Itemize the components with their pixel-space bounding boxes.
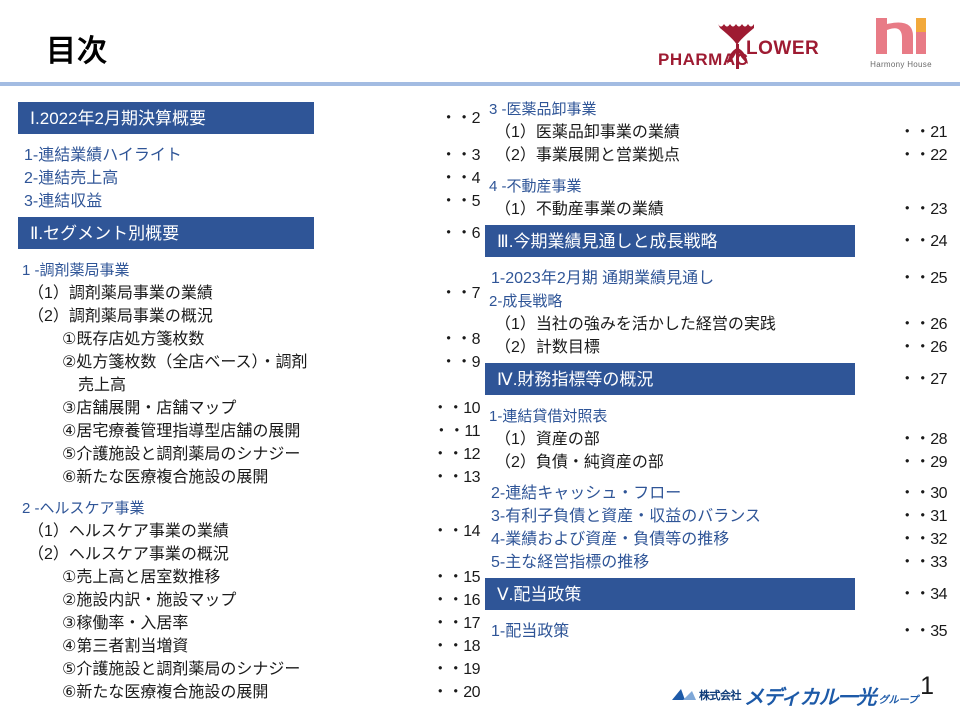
toc-item[interactable]: ②施設内訳・施設マップ・・16 (18, 589, 488, 612)
toc-item-label: ③稼働率・入居率 (18, 612, 188, 635)
toc-page-number: ・・5 (441, 190, 480, 213)
toc-item[interactable]: 2-成長戦略 (485, 290, 955, 313)
toc-item[interactable]: 売上高 (18, 374, 488, 397)
section-header-bar: Ⅲ.今期業績見通しと成長戦略 (485, 225, 855, 257)
toc-section-header[interactable]: Ⅴ.配当政策・・34 (485, 578, 955, 610)
toc-page-number: ・・7 (441, 282, 480, 305)
toc-page-number: ・・22 (899, 144, 947, 167)
toc-item-label: 2-成長戦略 (485, 290, 562, 313)
footer-logo-suffix: グループ (879, 691, 918, 708)
toc-page-number: ・・11 (433, 420, 480, 443)
toc-item[interactable]: （2）計数目標・・26 (485, 336, 955, 359)
header-divider (0, 82, 960, 86)
toc-item-label: 1-連結貸借対照表 (485, 405, 607, 428)
section-header-bar: Ⅱ.セグメント別概要 (18, 217, 314, 249)
toc-item[interactable]: ③稼働率・入居率・・17 (18, 612, 488, 635)
toc-item-label: 2-連結売上高 (18, 167, 118, 190)
section-header-bar: Ⅰ.2022年2月期決算概要 (18, 102, 314, 134)
spacer (18, 489, 488, 497)
toc-section-header[interactable]: Ⅰ.2022年2月期決算概要・・2 (18, 102, 488, 134)
toc-item-label: 1 -調剤薬局事業 (18, 259, 130, 282)
toc-item[interactable]: 4-業績および資産・負債等の推移・・32 (485, 528, 955, 551)
toc-item[interactable]: ⑥新たな医療複合施設の展開・・20 (18, 681, 488, 704)
section-header-bar: Ⅴ.配当政策 (485, 578, 855, 610)
toc-page-number: ・・24 (899, 230, 947, 253)
toc-item-label: （1）ヘルスケア事業の業績 (18, 520, 229, 543)
page-title: 目次 (46, 26, 108, 70)
toc-column-left: Ⅰ.2022年2月期決算概要・・21-連結業績ハイライト・・32-連結売上高・・… (18, 98, 488, 704)
toc-item-label: 3-有利子負債と資産・収益のバランス (485, 505, 761, 528)
harmony-house-logo: Harmony House (860, 16, 942, 78)
toc-item-label: 売上高 (18, 374, 126, 397)
toc-item-label: 2 -ヘルスケア事業 (18, 497, 145, 520)
toc-item[interactable]: （1）調剤薬局事業の業績・・7 (18, 282, 488, 305)
toc-item[interactable]: （2）事業展開と営業拠点・・22 (485, 144, 955, 167)
triangle-swoosh-icon (672, 688, 696, 702)
toc-page-number: ・・32 (899, 528, 947, 551)
toc-page-number: ・・33 (899, 551, 947, 574)
toc-item-label: ④第三者割当増資 (18, 635, 188, 658)
toc-page-number: ・・20 (432, 681, 480, 704)
toc-item-label: ①既存店処方箋枚数 (18, 328, 204, 351)
toc-item[interactable]: （1）医薬品卸事業の業績・・21 (485, 121, 955, 144)
toc-item-label: （2）負債・純資産の部 (485, 451, 664, 474)
toc-page-number: ・・12 (432, 443, 480, 466)
section-header-label: Ⅲ.今期業績見通しと成長戦略 (497, 230, 717, 253)
section-header-bar: Ⅳ.財務指標等の概況 (485, 363, 855, 395)
toc-page-number: ・・34 (899, 583, 947, 606)
toc-page-number: ・・18 (432, 635, 480, 658)
toc-page-number: ・・23 (899, 198, 947, 221)
toc-item[interactable]: 2-連結キャッシュ・フロー・・30 (485, 482, 955, 505)
toc-item[interactable]: ⑤介護施設と調剤薬局のシナジー・・12 (18, 443, 488, 466)
toc-item[interactable]: ①既存店処方箋枚数・・8 (18, 328, 488, 351)
toc-item[interactable]: （2）調剤薬局事業の概況 (18, 305, 488, 328)
section-header-label: Ⅳ.財務指標等の概況 (497, 368, 653, 391)
toc-page-number: ・・25 (899, 267, 947, 290)
toc-item-label: 2-連結キャッシュ・フロー (485, 482, 681, 505)
toc-item-label: ②施設内訳・施設マップ (18, 589, 236, 612)
toc-item-label: ⑤介護施設と調剤薬局のシナジー (18, 443, 300, 466)
toc-item[interactable]: 1-連結業績ハイライト・・3 (18, 144, 488, 167)
toc-page-number: ・・31 (899, 505, 947, 528)
toc-page-number: ・・35 (899, 620, 947, 643)
toc-page-number: ・・3 (441, 144, 480, 167)
toc-item-label: 3 -医薬品卸事業 (485, 98, 597, 121)
toc-item[interactable]: （2）負債・純資産の部・・29 (485, 451, 955, 474)
toc-item[interactable]: 3-有利子負債と資産・収益のバランス・・31 (485, 505, 955, 528)
toc-page-number: ・・10 (432, 397, 480, 420)
toc-item[interactable]: 3 -医薬品卸事業 (485, 98, 955, 121)
tulip-flower-icon (716, 20, 758, 70)
toc-page-number: ・・15 (432, 566, 480, 589)
slide-root: 目次 PHARMAC LOWER Harmony House Ⅰ (0, 0, 960, 720)
toc-item[interactable]: （1）ヘルスケア事業の業績・・14 (18, 520, 488, 543)
toc-item[interactable]: 1-配当政策・・35 (485, 620, 955, 643)
toc-item-label: （2）調剤薬局事業の概況 (18, 305, 213, 328)
toc-item[interactable]: 1 -調剤薬局事業 (18, 259, 488, 282)
toc-item-label: ①売上高と居室数推移 (18, 566, 220, 589)
toc-page-number: ・・21 (899, 121, 947, 144)
toc-item[interactable]: 1-連結貸借対照表 (485, 405, 955, 428)
toc-item-label: 4 -不動産事業 (485, 175, 582, 198)
toc-item-label: 5-主な経営指標の推移 (485, 551, 649, 574)
toc-item-label: （1）不動産事業の業績 (485, 198, 664, 221)
toc-item[interactable]: 2 -ヘルスケア事業 (18, 497, 488, 520)
toc-item[interactable]: ②処方箋枚数（全店ベース）・調剤・・9 (18, 351, 488, 374)
section-header-label: Ⅱ.セグメント別概要 (30, 222, 179, 245)
toc-item[interactable]: ⑤介護施設と調剤薬局のシナジー・・19 (18, 658, 488, 681)
toc-item[interactable]: 4 -不動産事業 (485, 175, 955, 198)
footer-logo-name: メディカル一光 (744, 681, 876, 710)
toc-section-header[interactable]: Ⅳ.財務指標等の概況・・27 (485, 363, 955, 395)
toc-page-number: ・・9 (441, 351, 480, 374)
toc-item-label: ③店舗展開・店舗マップ (18, 397, 236, 420)
toc-item-label: 1-2023年2月期 通期業績見通し (485, 267, 714, 290)
toc-page-number: ・・19 (432, 658, 480, 681)
toc-item[interactable]: （1）不動産事業の業績・・23 (485, 198, 955, 221)
toc-page-number: ・・16 (432, 589, 480, 612)
toc-item-label: 4-業績および資産・負債等の推移 (485, 528, 729, 551)
spacer (485, 167, 955, 175)
toc-page-number: ・・29 (899, 451, 947, 474)
toc-item[interactable]: ④第三者割当増資・・18 (18, 635, 488, 658)
section-header-label: Ⅴ.配当政策 (497, 583, 581, 606)
toc-page-number: ・・17 (432, 612, 480, 635)
toc-item[interactable]: 3-連結収益・・5 (18, 190, 488, 213)
toc-page-number: ・・14 (432, 520, 480, 543)
toc-page-number: ・・8 (441, 328, 480, 351)
harmony-house-caption: Harmony House (870, 60, 932, 69)
toc-item[interactable]: ⑥新たな医療複合施設の展開・・13 (18, 466, 488, 489)
toc-item-label: 1-連結業績ハイライト (18, 144, 182, 167)
toc-item-label: 3-連結収益 (18, 190, 102, 213)
toc-section-header[interactable]: Ⅱ.セグメント別概要・・6 (18, 217, 488, 249)
toc-item-label: （1）当社の強みを活かした経営の実践 (485, 313, 776, 336)
toc-item-label: （2）ヘルスケア事業の概況 (18, 543, 229, 566)
toc-item-label: （2）事業展開と営業拠点 (485, 144, 680, 167)
toc-item[interactable]: ③店舗展開・店舗マップ・・10 (18, 397, 488, 420)
toc-item[interactable]: 1-2023年2月期 通期業績見通し・・25 (485, 267, 955, 290)
header-logo-group: PHARMAC LOWER Harmony House (658, 8, 942, 78)
toc-item[interactable]: （1）当社の強みを活かした経営の実践・・26 (485, 313, 955, 336)
toc-page-number: ・・4 (441, 167, 480, 190)
toc-page-number: ・・28 (899, 428, 947, 451)
toc-item-label: ⑤介護施設と調剤薬局のシナジー (18, 658, 300, 681)
footer-logo-corp: 株式会社 (699, 687, 741, 703)
toc-item-label: 1-配当政策 (485, 620, 569, 643)
toc-item-label: （1）調剤薬局事業の業績 (18, 282, 213, 305)
page-number: 1 (920, 672, 934, 701)
section-header-label: Ⅰ.2022年2月期決算概要 (30, 107, 206, 130)
toc-item-label: ⑥新たな医療複合施設の展開 (18, 466, 268, 489)
toc-page-number: ・・2 (441, 107, 480, 130)
toc-item-label: ②処方箋枚数（全店ベース）・調剤 (18, 351, 308, 374)
toc-item-label: （2）計数目標 (485, 336, 600, 359)
toc-item-label: （1）資産の部 (485, 428, 600, 451)
toc-page-number: ・・26 (899, 313, 947, 336)
toc-item[interactable]: （2）ヘルスケア事業の概況 (18, 543, 488, 566)
medical-ikko-logo: 株式会社 メディカル一光 グループ (672, 682, 918, 708)
toc-item-label: （1）医薬品卸事業の業績 (485, 121, 680, 144)
toc-section-header[interactable]: Ⅲ.今期業績見通しと成長戦略・・24 (485, 225, 955, 257)
toc-page-number: ・・13 (432, 466, 480, 489)
toc-item[interactable]: （1）資産の部・・28 (485, 428, 955, 451)
toc-item[interactable]: 5-主な経営指標の推移・・33 (485, 551, 955, 574)
toc-column-right: 3 -医薬品卸事業（1）医薬品卸事業の業績・・21（2）事業展開と営業拠点・・2… (485, 98, 955, 643)
toc-item[interactable]: ④居宅療養管理指導型店舗の展開・・11 (18, 420, 488, 443)
toc-item[interactable]: 2-連結売上高・・4 (18, 167, 488, 190)
toc-page-number: ・・26 (899, 336, 947, 359)
toc-page-number: ・・6 (441, 222, 480, 245)
h-monogram-icon (872, 16, 930, 56)
toc-item[interactable]: ①売上高と居室数推移・・15 (18, 566, 488, 589)
toc-page-number: ・・30 (899, 482, 947, 505)
toc-item-label: ④居宅療養管理指導型店舗の展開 (18, 420, 300, 443)
toc-page-number: ・・27 (899, 368, 947, 391)
pharmacy-flower-logo: PHARMAC LOWER (658, 14, 826, 78)
toc-item-label: ⑥新たな医療複合施設の展開 (18, 681, 268, 704)
spacer (485, 474, 955, 482)
